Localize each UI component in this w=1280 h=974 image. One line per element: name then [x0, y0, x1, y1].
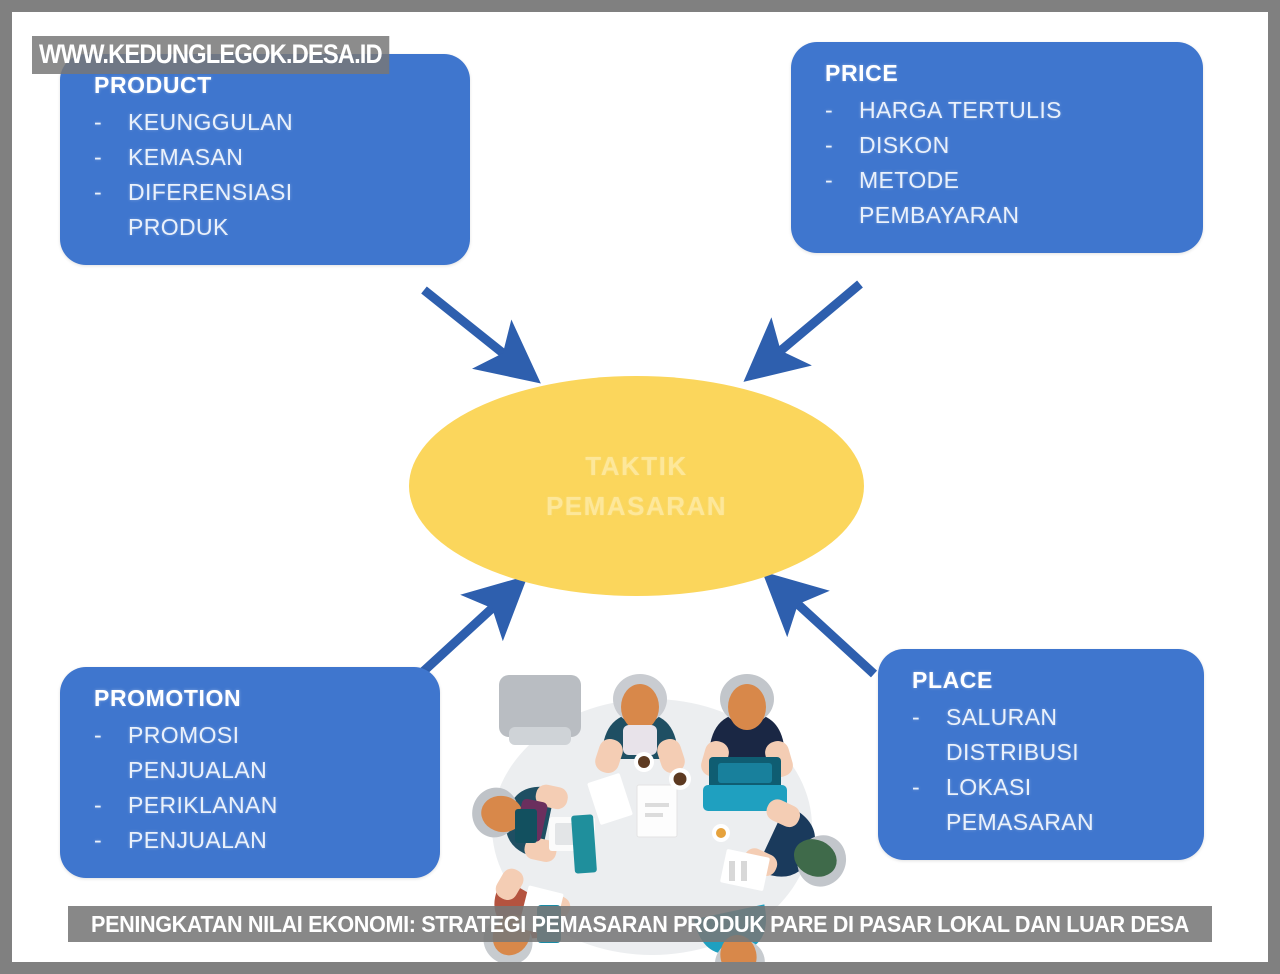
list-item-label: PEMASARAN [946, 805, 1182, 840]
list-item: PRODUK [94, 210, 448, 245]
bullet-dash: - [94, 788, 128, 823]
diagram-canvas: TAKTIK PEMASARAN PRODUCT - KEUNGGULAN - … [12, 12, 1268, 962]
bullet-dash: - [825, 163, 859, 198]
bullet-dash: - [94, 175, 128, 210]
list-item: - DIFERENSIASI [94, 175, 448, 210]
bullet-dash: - [94, 823, 128, 858]
list-item-label: KEUNGGULAN [128, 105, 448, 140]
box-product-title: PRODUCT [94, 72, 448, 99]
list-item: - PROMOSI [94, 718, 418, 753]
list-item-label: DISKON [859, 128, 1181, 163]
center-line-1: TAKTIK [585, 446, 687, 486]
list-item: - HARGA TERTULIS [825, 93, 1181, 128]
caption-text: PENINGKATAN NILAI EKONOMI: STRATEGI PEMA… [91, 911, 1189, 938]
list-item-label: KEMASAN [128, 140, 448, 175]
arrow-product-to-center [424, 290, 524, 370]
bullet-dash: - [912, 770, 946, 805]
bullet-dash: - [825, 128, 859, 163]
arrow-place-to-center [778, 586, 874, 674]
bullet-dash: - [94, 105, 128, 140]
list-item: - LOKASI [912, 770, 1182, 805]
list-item-label: DIFERENSIASI [128, 175, 448, 210]
caption-bar: PENINGKATAN NILAI EKONOMI: STRATEGI PEMA… [68, 906, 1212, 942]
list-item-label: PENJUALAN [128, 753, 418, 788]
list-item-label: SALURAN [946, 700, 1182, 735]
bullet-dash: - [825, 93, 859, 128]
site-watermark: WWW.KEDUNGLEGOK.DESA.ID [32, 36, 389, 74]
list-item-label: LOKASI [946, 770, 1182, 805]
box-price-title: PRICE [825, 60, 1181, 87]
list-item-label: PRODUK [128, 210, 448, 245]
list-item: - DISKON [825, 128, 1181, 163]
list-item: DISTRIBUSI [912, 735, 1182, 770]
list-item-label: PEMBAYARAN [859, 198, 1181, 233]
box-promotion[interactable]: PROMOTION - PROMOSI PENJUALAN - PERIKLAN… [60, 667, 440, 878]
list-item: - KEMASAN [94, 140, 448, 175]
bullet-dash: - [94, 718, 128, 753]
box-place-title: PLACE [912, 667, 1182, 694]
diagram-page: TAKTIK PEMASARAN PRODUCT - KEUNGGULAN - … [0, 0, 1280, 974]
list-item: - PERIKLANAN [94, 788, 418, 823]
list-item-label: HARGA TERTULIS [859, 93, 1181, 128]
list-item: - PENJUALAN [94, 823, 418, 858]
list-item: - METODE [825, 163, 1181, 198]
box-place[interactable]: PLACE - SALURAN DISTRIBUSI - LOKASI PEMA… [878, 649, 1204, 860]
list-item-label: PENJUALAN [128, 823, 418, 858]
box-promotion-list: - PROMOSI PENJUALAN - PERIKLANAN - PENJU… [94, 718, 418, 858]
list-item: PEMASARAN [912, 805, 1182, 840]
list-item-label: DISTRIBUSI [946, 735, 1182, 770]
box-price-list: - HARGA TERTULIS - DISKON - METODE PEMBA… [825, 93, 1181, 233]
list-item: - SALURAN [912, 700, 1182, 735]
center-line-2: PEMASARAN [546, 486, 727, 526]
bullet-dash: - [912, 700, 946, 735]
list-item-label: METODE [859, 163, 1181, 198]
box-place-list: - SALURAN DISTRIBUSI - LOKASI PEMASARAN [912, 700, 1182, 840]
box-price[interactable]: PRICE - HARGA TERTULIS - DISKON - METODE… [791, 42, 1203, 253]
box-promotion-title: PROMOTION [94, 685, 418, 712]
center-node-taktik-pemasaran: TAKTIK PEMASARAN [409, 376, 864, 596]
box-product-list: - KEUNGGULAN - KEMASAN - DIFERENSIASI PR… [94, 105, 448, 245]
list-item-label: PERIKLANAN [128, 788, 418, 823]
list-item: - KEUNGGULAN [94, 105, 448, 140]
bullet-dash: - [94, 140, 128, 175]
arrow-price-to-center [760, 284, 860, 368]
list-item-label: PROMOSI [128, 718, 418, 753]
list-item: PEMBAYARAN [825, 198, 1181, 233]
list-item: PENJUALAN [94, 753, 418, 788]
box-product[interactable]: PRODUCT - KEUNGGULAN - KEMASAN - DIFEREN… [60, 54, 470, 265]
